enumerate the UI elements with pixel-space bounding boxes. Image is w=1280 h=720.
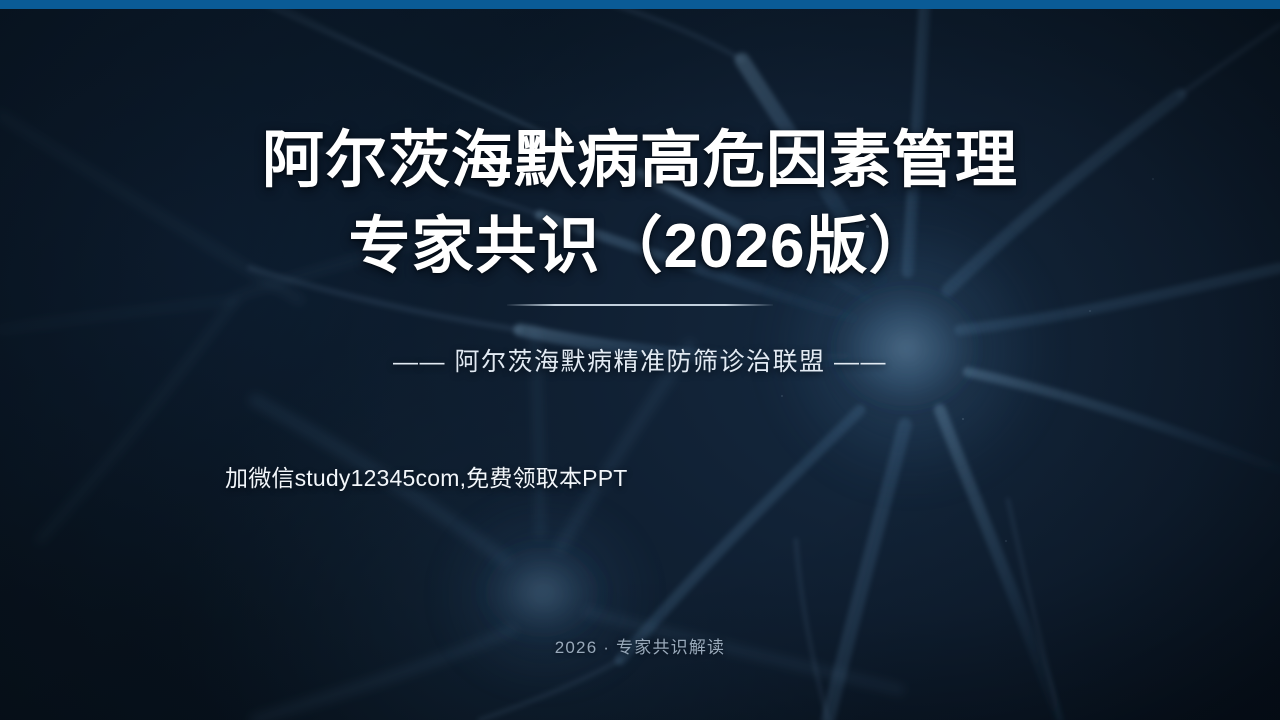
neuron-soma-glow-secondary bbox=[430, 500, 660, 690]
background-speck bbox=[781, 395, 783, 397]
page-title: 阿尔茨海默病高危因素管理 专家共识（2026版） bbox=[0, 118, 1280, 290]
title-divider bbox=[507, 304, 773, 306]
background-speck bbox=[1089, 310, 1091, 312]
watermark-text: 加微信study12345com,免费领取本PPT bbox=[225, 463, 628, 493]
presentation-slide: 阿尔茨海默病高危因素管理 专家共识（2026版） —— 阿尔茨海默病精准防筛诊治… bbox=[0, 0, 1280, 720]
background-speck bbox=[962, 418, 964, 420]
title-line-1: 阿尔茨海默病高危因素管理 bbox=[0, 118, 1280, 204]
footer-caption: 2026 · 专家共识解读 bbox=[0, 636, 1280, 660]
background-speck bbox=[1005, 540, 1007, 542]
title-line-2: 专家共识（2026版） bbox=[0, 204, 1280, 290]
subtitle-organization: —— 阿尔茨海默病精准防筛诊治联盟 —— bbox=[0, 345, 1280, 379]
top-accent-bar bbox=[0, 0, 1280, 9]
